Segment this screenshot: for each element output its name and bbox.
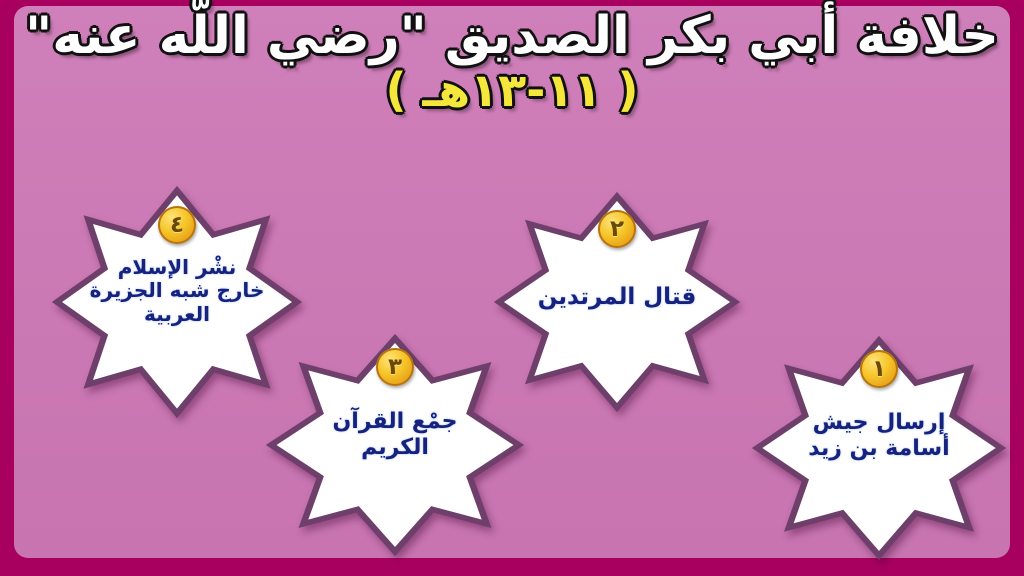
badge-number-4: ٤ (158, 206, 196, 244)
badge-number-3: ٣ (376, 348, 414, 386)
star-card-usama-army[interactable]: ١ إرسال جيش أسامة بن زيد (752, 336, 1006, 560)
star-card-spread-of-islam[interactable]: ٤ نشْر الإسلام خارج شبه الجزيرة العربية (52, 186, 302, 418)
star-card-fighting-apostates[interactable]: ٢ قتال المرتدين (494, 192, 740, 412)
infographic-canvas: خلافة أبي بكر الصديق "رضي اللّه عنه" ( ١… (0, 0, 1024, 576)
star-card-compilation-of-quran[interactable]: ٣ جمْع القرآن الكريم (266, 334, 524, 556)
badge-number-1: ١ (860, 350, 898, 388)
badge-number-2: ٢ (598, 210, 636, 248)
